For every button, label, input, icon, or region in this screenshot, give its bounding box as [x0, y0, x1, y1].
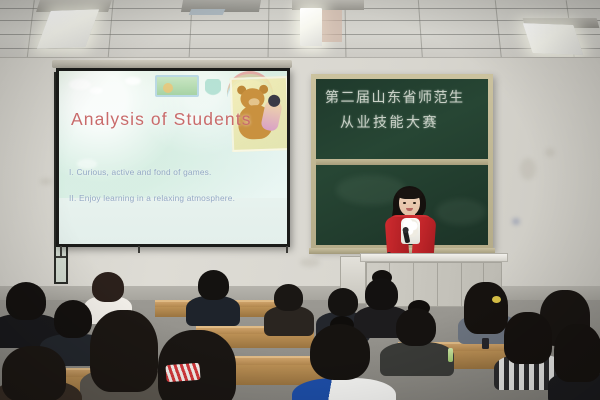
slide-title: Analysis of Students — [71, 109, 252, 130]
slide-body-line-1: I. Curious, active and fond of games. — [69, 167, 212, 177]
presenter — [380, 186, 440, 258]
ceiling-light-center — [300, 8, 322, 46]
audience-person — [388, 304, 448, 374]
bottle-on-desk — [448, 348, 453, 362]
ceiling — [0, 0, 600, 62]
presenter-mouth — [406, 208, 413, 211]
blackboard-panel-divider — [316, 159, 488, 165]
slide-background — [59, 71, 287, 198]
ceiling-light-left — [37, 9, 100, 49]
phone-on-desk — [482, 338, 489, 349]
presenter-fringe — [397, 188, 422, 199]
screen-hook-right — [286, 246, 288, 253]
audience-person — [554, 324, 600, 400]
lectern-top — [360, 253, 508, 262]
audience-person — [300, 320, 386, 400]
classroom-scene: Analysis of Students I. Curious, active … — [0, 0, 600, 400]
slide-body-line-2: II. Enjoy learning in a relaxing atmosph… — [69, 193, 235, 203]
projection-screen: Analysis of Students I. Curious, active … — [56, 68, 290, 247]
blackboard-text-line-1: 第二届山东省师范生 — [325, 87, 465, 107]
presenter-eye-right — [413, 202, 416, 204]
audience-person — [190, 270, 236, 322]
doll-graphic — [260, 99, 283, 132]
screen-hook-left — [60, 246, 62, 257]
slide-picture-graphic — [155, 75, 199, 97]
audience-seating — [0, 268, 600, 400]
audience-person — [0, 346, 76, 400]
projection-screen-roller — [52, 60, 292, 68]
audience-person — [500, 312, 560, 388]
slide-lower-area — [59, 198, 287, 244]
presenter-eye-left — [403, 202, 406, 204]
slide-tree-graphic — [205, 79, 221, 99]
screen-hook-center — [138, 246, 140, 253]
blackboard-text-line-2: 从业技能大赛 — [340, 112, 439, 132]
audience-person — [88, 310, 166, 400]
ceiling-vent-grille — [189, 9, 226, 15]
patterned-bag — [165, 363, 200, 382]
ceiling-light-right — [523, 23, 583, 55]
projection-screen-surface: Analysis of Students I. Curious, active … — [59, 71, 287, 244]
